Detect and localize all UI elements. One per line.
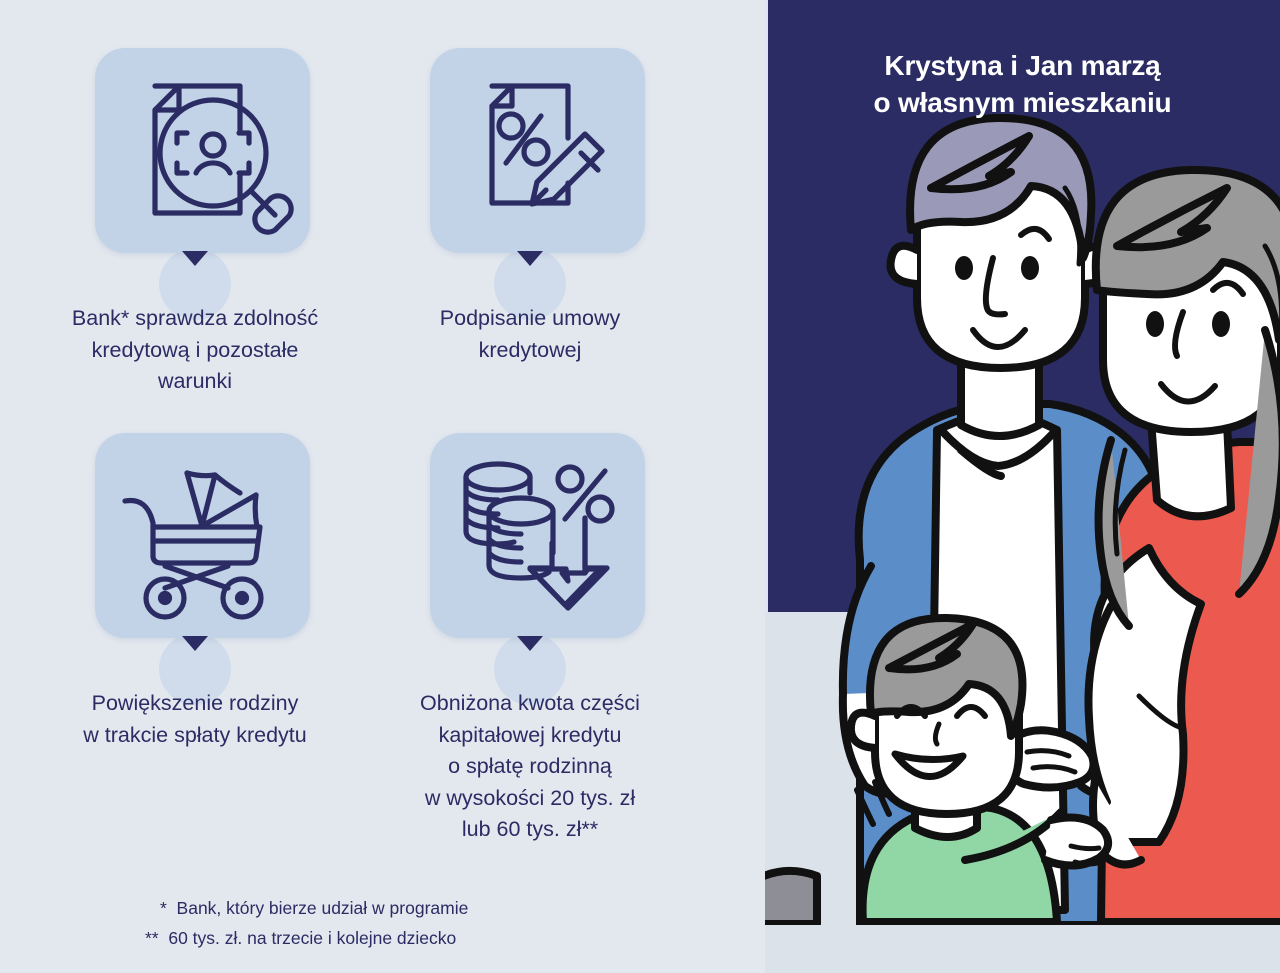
step-item-1: Bank* sprawdza zdolność kredytową i pozo… (45, 48, 345, 288)
tile-pointer-arrow (517, 251, 543, 266)
caption-line: Podpisanie umowy (380, 303, 680, 335)
caption-line: kredytową i pozostałe (45, 335, 345, 367)
caption-line: kapitałowej kredytu (380, 720, 680, 752)
tile-background (430, 48, 645, 253)
tile-pointer-arrow (517, 636, 543, 651)
caption-line: warunki (45, 366, 345, 398)
step-caption-3: Powiększenie rodziny w trakcie spłaty kr… (45, 688, 345, 751)
step-caption-1: Bank* sprawdza zdolność kredytową i pozo… (45, 303, 345, 398)
family-illustration-art (765, 0, 1280, 973)
step-icon-tile-4 (380, 433, 680, 673)
caption-line: lub 60 tys. zł** (380, 814, 680, 846)
tile-pointer-arrow (182, 636, 208, 651)
tile-background (430, 433, 645, 638)
footnote-2: ** 60 tys. zł. na trzecie i kolejne dzie… (60, 923, 620, 953)
family-illustration (765, 0, 1280, 973)
infographic-page: Bank* sprawdza zdolność kredytową i pozo… (0, 0, 1280, 973)
step-item-2: Podpisanie umowy kredytowej (380, 48, 680, 288)
tile-pointer-arrow (182, 251, 208, 266)
footnote-1: * Bank, który bierze udział w programie (60, 893, 620, 923)
caption-line: Powiększenie rodziny (45, 688, 345, 720)
document-magnifier-person-icon (95, 48, 310, 253)
document-percent-pencil-icon (430, 48, 645, 253)
step-caption-2: Podpisanie umowy kredytowej (380, 303, 680, 366)
tile-background (95, 433, 310, 638)
caption-line: w trakcie spłaty kredytu (45, 720, 345, 752)
step-icon-tile-3 (45, 433, 345, 673)
caption-line: Bank* sprawdza zdolność (45, 303, 345, 335)
step-icon-tile-2 (380, 48, 680, 288)
caption-line: Obniżona kwota części (380, 688, 680, 720)
step-item-4: Obniżona kwota części kapitałowej kredyt… (380, 433, 680, 673)
tile-background (95, 48, 310, 253)
headline-line-2: o własnym mieszkaniu (765, 85, 1280, 122)
headline-line-1: Krystyna i Jan marzą (765, 48, 1280, 85)
step-icon-tile-1 (45, 48, 345, 288)
illustration-panel: Krystyna i Jan marzą o własnym mieszkani… (765, 0, 1280, 973)
caption-line: kredytowej (380, 335, 680, 367)
baby-pram-icon (95, 433, 310, 638)
steps-column: Bank* sprawdza zdolność kredytową i pozo… (0, 0, 765, 973)
footnotes: * Bank, który bierze udział w programie … (60, 893, 620, 953)
step-caption-4: Obniżona kwota części kapitałowej kredyt… (380, 688, 680, 846)
step-item-3: Powiększenie rodziny w trakcie spłaty kr… (45, 433, 345, 673)
panel-headline: Krystyna i Jan marzą o własnym mieszkani… (765, 48, 1280, 122)
caption-line: w wysokości 20 tys. zł (380, 783, 680, 815)
caption-line: o spłatę rodzinną (380, 751, 680, 783)
coins-percent-down-arrow-icon (430, 433, 645, 638)
